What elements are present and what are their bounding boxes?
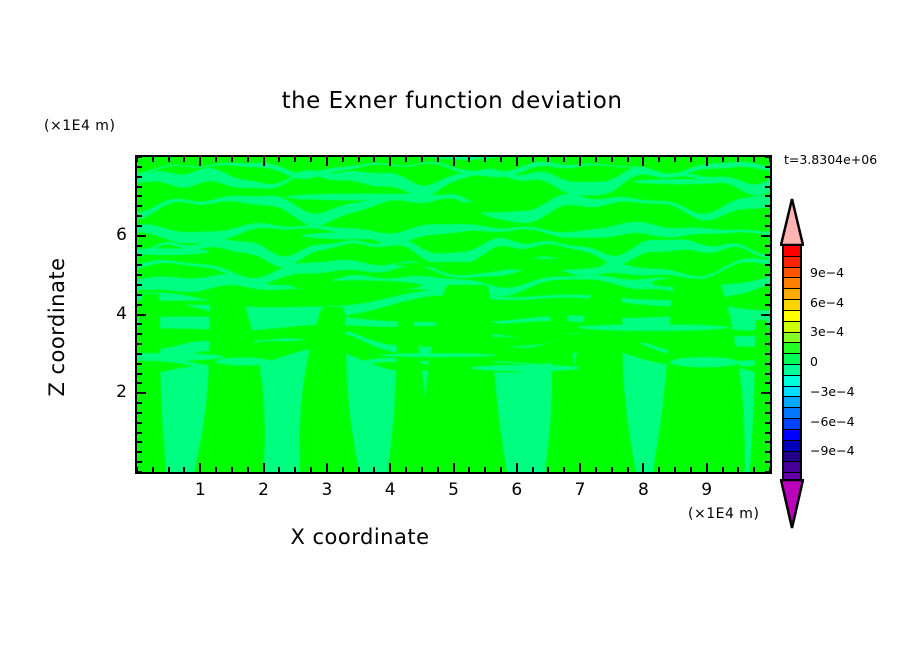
- y-tick: [137, 432, 142, 434]
- x-tick: [421, 467, 423, 472]
- timestamp-annotation: t=3.8304e+06: [784, 152, 877, 167]
- x-tick-top: [294, 157, 296, 162]
- colorbar-separator: [784, 472, 800, 473]
- colorbar-separator: [784, 299, 800, 300]
- x-tick-top: [547, 157, 549, 162]
- colorbar-separator: [784, 440, 800, 441]
- x-tick: [516, 463, 518, 472]
- y-tick-right: [761, 392, 770, 394]
- colorbar-separator: [784, 461, 800, 462]
- y-tick: [137, 245, 142, 247]
- y-tick: [137, 353, 142, 355]
- x-tick: [231, 467, 233, 472]
- x-tick-top: [468, 157, 470, 162]
- x-tick-top: [642, 157, 644, 166]
- x-tick: [579, 463, 581, 472]
- x-tick: [263, 463, 265, 472]
- colorbar-band: [784, 396, 800, 407]
- y-tick-right: [761, 235, 770, 237]
- x-tick-top: [183, 157, 185, 162]
- x-tick-top: [737, 157, 739, 162]
- colorbar-over-arrow: [780, 198, 804, 246]
- x-tick-top: [231, 157, 233, 162]
- y-tick-right: [765, 294, 770, 296]
- x-tick: [627, 467, 629, 472]
- y-axis-title: Z coordinate: [45, 237, 69, 417]
- x-tick: [389, 463, 391, 472]
- y-tick-right: [765, 451, 770, 453]
- y-tick-right: [761, 314, 770, 316]
- x-tick-top: [389, 157, 391, 166]
- x-tick: [247, 467, 249, 472]
- y-tick: [137, 304, 142, 306]
- colorbar-band: [784, 342, 800, 353]
- colorbar-band: [784, 256, 800, 267]
- x-tick: [168, 467, 170, 472]
- y-tick: [137, 451, 142, 453]
- y-tick: [137, 333, 142, 335]
- y-tick: [137, 392, 146, 394]
- x-tick: [563, 467, 565, 472]
- x-tick-top: [706, 157, 708, 166]
- y-tick: [137, 441, 142, 443]
- y-tick-right: [765, 432, 770, 434]
- x-tick-top: [627, 157, 629, 162]
- x-tick-top: [674, 157, 676, 162]
- x-tick: [722, 467, 724, 472]
- x-tick: [595, 467, 597, 472]
- colorbar-separator: [784, 353, 800, 354]
- x-tick: [547, 467, 549, 472]
- colorbar-separator: [784, 418, 800, 419]
- y-tick-right: [765, 304, 770, 306]
- x-tick-label: 3: [302, 480, 352, 500]
- y-tick-right: [765, 176, 770, 178]
- x-tick-label: 9: [682, 480, 732, 500]
- y-tick-right: [765, 461, 770, 463]
- colorbar-separator: [784, 277, 800, 278]
- x-tick: [183, 467, 185, 472]
- x-tick: [199, 463, 201, 472]
- x-tick: [658, 467, 660, 472]
- x-tick-top: [500, 157, 502, 162]
- x-tick: [215, 467, 217, 472]
- x-tick-top: [453, 157, 455, 166]
- y-tick-right: [765, 166, 770, 168]
- x-tick-top: [722, 157, 724, 162]
- x-tick-top: [326, 157, 328, 166]
- y-tick: [137, 195, 142, 197]
- contour-plot-area: [135, 155, 772, 474]
- y-tick: [137, 254, 142, 256]
- colorbar-band: [784, 321, 800, 332]
- colorbar-tick-label: −9e−4: [810, 443, 855, 458]
- colorbar-band: [784, 299, 800, 310]
- colorbar-separator: [784, 321, 800, 322]
- colorbar-separator: [784, 267, 800, 268]
- colorbar-band: [784, 440, 800, 451]
- x-tick: [358, 467, 360, 472]
- x-tick-top: [152, 157, 154, 162]
- colorbar-separator: [784, 375, 800, 376]
- x-tick-top: [247, 157, 249, 162]
- x-tick-label: 5: [429, 480, 479, 500]
- colorbar-separator: [784, 332, 800, 333]
- y-tick-right: [765, 264, 770, 266]
- y-tick-right: [765, 333, 770, 335]
- colorbar: 9e−46e−43e−40−3e−4−6e−4−9e−4: [777, 196, 807, 530]
- colorbar-band: [784, 461, 800, 472]
- x-tick: [310, 467, 312, 472]
- y-tick: [137, 314, 146, 316]
- colorbar-band: [784, 332, 800, 343]
- x-tick: [532, 467, 534, 472]
- colorbar-separator: [784, 288, 800, 289]
- colorbar-separator: [784, 342, 800, 343]
- y-tick: [137, 215, 142, 217]
- x-tick: [706, 463, 708, 472]
- x-tick-top: [532, 157, 534, 162]
- y-tick: [137, 412, 142, 414]
- y-tick: [137, 422, 142, 424]
- x-tick-top: [658, 157, 660, 162]
- y-tick: [137, 471, 142, 473]
- x-tick-top: [437, 157, 439, 162]
- y-tick: [137, 294, 142, 296]
- colorbar-band: [784, 288, 800, 299]
- y-tick-right: [765, 205, 770, 207]
- page-title: the Exner function deviation: [0, 88, 904, 114]
- x-tick: [278, 467, 280, 472]
- x-tick-top: [263, 157, 265, 166]
- x-axis-unit-label: (×1E4 m): [688, 506, 759, 522]
- y-tick: [137, 461, 142, 463]
- colorbar-bands: [782, 243, 802, 481]
- y-tick: [137, 235, 146, 237]
- x-tick-top: [611, 157, 613, 162]
- colorbar-band: [784, 375, 800, 386]
- y-tick-right: [765, 274, 770, 276]
- colorbar-tick-label: −3e−4: [810, 384, 855, 399]
- x-tick-top: [373, 157, 375, 162]
- x-tick-top: [484, 157, 486, 162]
- x-tick-top: [595, 157, 597, 162]
- x-tick-label: 7: [555, 480, 605, 500]
- x-tick-label: 4: [365, 480, 415, 500]
- x-tick: [674, 467, 676, 472]
- colorbar-band: [784, 245, 800, 256]
- x-axis-title: X coordinate: [0, 525, 720, 549]
- colorbar-band: [784, 451, 800, 462]
- x-tick-top: [342, 157, 344, 162]
- y-tick-right: [765, 186, 770, 188]
- x-tick-top: [278, 157, 280, 162]
- y-tick: [137, 264, 142, 266]
- y-tick-right: [765, 215, 770, 217]
- colorbar-tick-label: 3e−4: [810, 324, 844, 339]
- y-tick: [137, 205, 142, 207]
- colorbar-separator: [784, 256, 800, 257]
- colorbar-band: [784, 364, 800, 375]
- x-tick: [611, 467, 613, 472]
- y-tick: [137, 323, 142, 325]
- x-tick-top: [579, 157, 581, 166]
- x-tick: [468, 467, 470, 472]
- y-tick-right: [765, 402, 770, 404]
- x-tick-top: [516, 157, 518, 166]
- colorbar-separator: [784, 310, 800, 311]
- x-tick-top: [753, 157, 755, 162]
- x-tick: [342, 467, 344, 472]
- x-tick-top: [421, 157, 423, 162]
- colorbar-under-arrow: [780, 479, 804, 529]
- x-tick-top: [199, 157, 201, 166]
- x-tick: [500, 467, 502, 472]
- colorbar-separator: [784, 451, 800, 452]
- contour-field: [137, 157, 770, 472]
- x-tick: [294, 467, 296, 472]
- colorbar-band: [784, 407, 800, 418]
- y-tick-right: [765, 363, 770, 365]
- y-tick: [137, 382, 142, 384]
- y-tick-right: [765, 254, 770, 256]
- x-tick: [373, 467, 375, 472]
- colorbar-tick-label: 0: [810, 354, 818, 369]
- y-tick-right: [765, 353, 770, 355]
- colorbar-separator: [784, 386, 800, 387]
- x-tick-label: 6: [492, 480, 542, 500]
- colorbar-band: [784, 386, 800, 397]
- y-tick-right: [765, 156, 770, 158]
- x-tick: [405, 467, 407, 472]
- y-tick: [137, 363, 142, 365]
- y-tick-right: [765, 245, 770, 247]
- colorbar-separator: [784, 364, 800, 365]
- y-tick-right: [765, 471, 770, 473]
- x-tick: [437, 467, 439, 472]
- x-tick-label: 8: [618, 480, 668, 500]
- y-tick: [137, 284, 142, 286]
- y-tick: [137, 166, 142, 168]
- y-tick-right: [765, 195, 770, 197]
- y-axis-unit-label: (×1E4 m): [44, 118, 115, 134]
- y-tick-label: 4: [99, 304, 127, 324]
- x-tick-top: [215, 157, 217, 162]
- x-tick-top: [168, 157, 170, 162]
- y-tick: [137, 186, 142, 188]
- y-tick: [137, 373, 142, 375]
- x-tick: [642, 463, 644, 472]
- x-tick-top: [358, 157, 360, 162]
- colorbar-separator: [784, 407, 800, 408]
- colorbar-tick-label: 6e−4: [810, 295, 844, 310]
- colorbar-tick-label: −6e−4: [810, 414, 855, 429]
- colorbar-separator: [784, 396, 800, 397]
- x-tick-label: 1: [175, 480, 225, 500]
- colorbar-band: [784, 418, 800, 429]
- y-tick-right: [765, 284, 770, 286]
- x-tick: [326, 463, 328, 472]
- y-tick: [137, 225, 142, 227]
- x-tick-top: [690, 157, 692, 162]
- y-tick-right: [765, 225, 770, 227]
- y-tick: [137, 343, 142, 345]
- y-tick-right: [765, 412, 770, 414]
- x-tick: [152, 467, 154, 472]
- colorbar-separator: [784, 429, 800, 430]
- y-tick-right: [765, 441, 770, 443]
- y-tick: [137, 274, 142, 276]
- colorbar-tick-label: 9e−4: [810, 265, 844, 280]
- colorbar-band: [784, 267, 800, 278]
- y-tick-label: 2: [99, 382, 127, 402]
- colorbar-band: [784, 277, 800, 288]
- x-tick-top: [405, 157, 407, 162]
- x-tick: [753, 467, 755, 472]
- x-tick: [484, 467, 486, 472]
- x-tick: [690, 467, 692, 472]
- y-tick-right: [765, 343, 770, 345]
- x-tick: [737, 467, 739, 472]
- colorbar-band: [784, 353, 800, 364]
- y-tick: [137, 156, 142, 158]
- y-tick-right: [765, 422, 770, 424]
- y-tick: [137, 176, 142, 178]
- x-tick-top: [310, 157, 312, 162]
- y-tick: [137, 402, 142, 404]
- y-tick-right: [765, 373, 770, 375]
- x-tick-top: [563, 157, 565, 162]
- y-tick-right: [765, 382, 770, 384]
- x-tick-label: 2: [239, 480, 289, 500]
- y-tick-label: 6: [99, 225, 127, 245]
- y-tick-right: [765, 323, 770, 325]
- colorbar-band: [784, 310, 800, 321]
- x-tick: [453, 463, 455, 472]
- colorbar-band: [784, 429, 800, 440]
